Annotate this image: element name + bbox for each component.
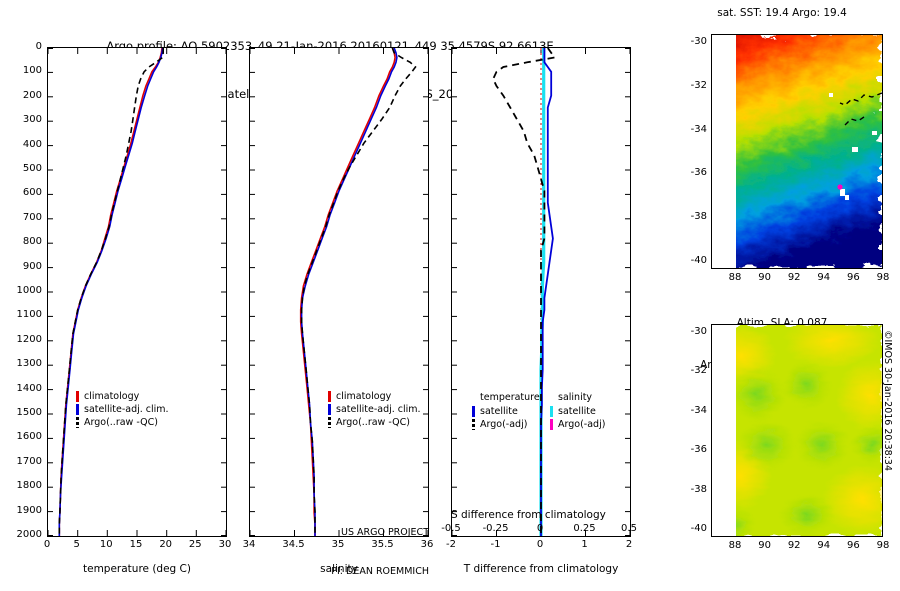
map-y-tick-label: -40 [683,255,707,266]
x-tick-label: 34 [227,539,271,550]
temperature-plot-svg [48,48,226,536]
map-y-tick-label: -36 [683,167,707,178]
legend-header: temperature [480,392,550,405]
x-tick-label: -0.5 [429,523,473,534]
legend-row: Argo(-adj) [472,418,550,431]
pressure-tick-label: 300 [8,114,42,125]
pressure-tick-label: 1000 [8,285,42,296]
legend-color-swatch [76,391,79,402]
legend-label: climatology [336,390,391,403]
map-x-tick-label: 88 [719,272,751,283]
difference-profile-panel [451,47,631,537]
difference-legend: temperaturesatelliteArgo(-adj)salinitysa… [472,392,628,431]
map-x-tick-label: 92 [778,272,810,283]
pressure-tick-label: 1200 [8,334,42,345]
sst-map-panel [711,34,883,269]
legend-row: Argo(..raw -QC) [76,416,169,429]
legend-column: salinitysatelliteArgo(-adj) [550,392,628,431]
map-x-tick-label: 98 [867,540,899,551]
x-tick-label: -1 [474,539,518,550]
pressure-tick-label: 600 [8,187,42,198]
pressure-tick-label: 400 [8,139,42,150]
x-tick-label: 2 [607,539,651,550]
map-x-tick-label: 96 [837,540,869,551]
legend-color-swatch [472,419,475,430]
difference-xlabel-top: S difference from climatology [441,509,651,521]
legend-row: Argo(-adj) [550,418,628,431]
legend-row: satellite-adj. clim. [328,403,421,416]
pressure-tick-label: 0 [8,41,42,52]
legend-label: Argo(..raw -QC) [84,416,158,429]
legend-row: satellite [472,405,550,418]
map-x-tick-label: 94 [808,540,840,551]
legend-color-swatch [76,404,79,415]
pressure-tick-label: 500 [8,163,42,174]
pressure-tick-label: 1600 [8,431,42,442]
x-tick-label: 35.5 [361,539,405,550]
x-tick-label: 0.25 [563,523,607,534]
difference-plot-svg [452,48,630,536]
map-y-tick-label: -34 [683,124,707,135]
map-y-tick-label: -36 [683,444,707,455]
pressure-tick-label: 700 [8,212,42,223]
pressure-tick-label: 1300 [8,358,42,369]
map-x-tick-label: 90 [749,540,781,551]
legend-label: satellite-adj. clim. [336,403,421,416]
map-x-tick-label: 98 [867,272,899,283]
x-tick-label: 1 [563,539,607,550]
sst-map-title: sat. SST: 19.4 Argo: 19.4 [672,6,892,20]
legend-label: Argo(..raw -QC) [336,416,410,429]
salinity-plot-svg [250,48,428,536]
legend-row: satellite-adj. clim. [76,403,169,416]
legend-row: satellite [550,405,628,418]
legend-label: satellite-adj. clim. [84,403,169,416]
legend-label: Argo(-adj) [558,419,605,430]
temperature-legend: climatologysatellite-adj. clim.Argo(..ra… [76,390,169,429]
pressure-tick-label: 1800 [8,480,42,491]
x-tick-label: 35 [316,539,360,550]
salinity-legend: climatologysatellite-adj. clim.Argo(..ra… [328,390,421,429]
pressure-tick-label: 1100 [8,309,42,320]
map-x-tick-label: 90 [749,272,781,283]
sst-map-svg [712,35,882,268]
legend-color-swatch [550,419,553,430]
pressure-tick-label: 800 [8,236,42,247]
pressure-tick-label: 1500 [8,407,42,418]
pressure-tick-label: 1700 [8,456,42,467]
salinity-profile-panel [249,47,429,537]
project-line-1: US ARGO PROJECT [289,526,429,539]
legend-color-swatch [328,404,331,415]
project-line-2: PI: DEAN ROEMMICH [289,565,429,578]
pressure-tick-label: 1400 [8,383,42,394]
map-y-tick-label: -30 [683,36,707,47]
map-y-tick-label: -40 [683,523,707,534]
x-tick-label: 34.5 [272,539,316,550]
pressure-tick-label: 900 [8,261,42,272]
legend-label: climatology [84,390,139,403]
sla-map-panel [711,324,883,537]
pressure-tick-label: 200 [8,90,42,101]
x-tick-label: 0.5 [607,523,651,534]
legend-label: Argo(-adj) [480,419,527,430]
map-y-tick-label: -32 [683,365,707,376]
legend-color-swatch [472,406,475,417]
x-tick-label: -2 [429,539,473,550]
x-tick-label: -0.25 [474,523,518,534]
copyright-label: ©IMOS 30-Jan-2016 20:38:34 [882,330,893,471]
sla-map-svg [712,325,882,536]
legend-color-swatch [328,417,331,428]
temperature-xlabel: temperature (deg C) [47,563,227,575]
legend-row: climatology [76,390,169,403]
pressure-tick-label: 100 [8,65,42,76]
legend-color-swatch [328,391,331,402]
legend-row: Argo(..raw -QC) [328,416,421,429]
x-tick-label: 0 [518,523,562,534]
legend-row: climatology [328,390,421,403]
map-y-tick-label: -38 [683,484,707,495]
map-y-tick-label: -30 [683,326,707,337]
legend-column: temperaturesatelliteArgo(-adj) [472,392,550,431]
map-y-tick-label: -34 [683,405,707,416]
legend-header: salinity [558,392,628,405]
map-x-tick-label: 94 [808,272,840,283]
map-x-tick-label: 96 [837,272,869,283]
map-y-tick-label: -38 [683,211,707,222]
legend-label: satellite [480,406,518,417]
legend-color-swatch [76,417,79,428]
map-y-tick-label: -32 [683,80,707,91]
x-tick-label: 0 [518,539,562,550]
map-x-tick-label: 92 [778,540,810,551]
difference-xlabel-bottom: T difference from climatology [441,563,641,575]
temperature-profile-panel [47,47,227,537]
map-x-tick-label: 88 [719,540,751,551]
legend-color-swatch [550,406,553,417]
legend-label: satellite [558,406,596,417]
pressure-tick-label: 1900 [8,505,42,516]
